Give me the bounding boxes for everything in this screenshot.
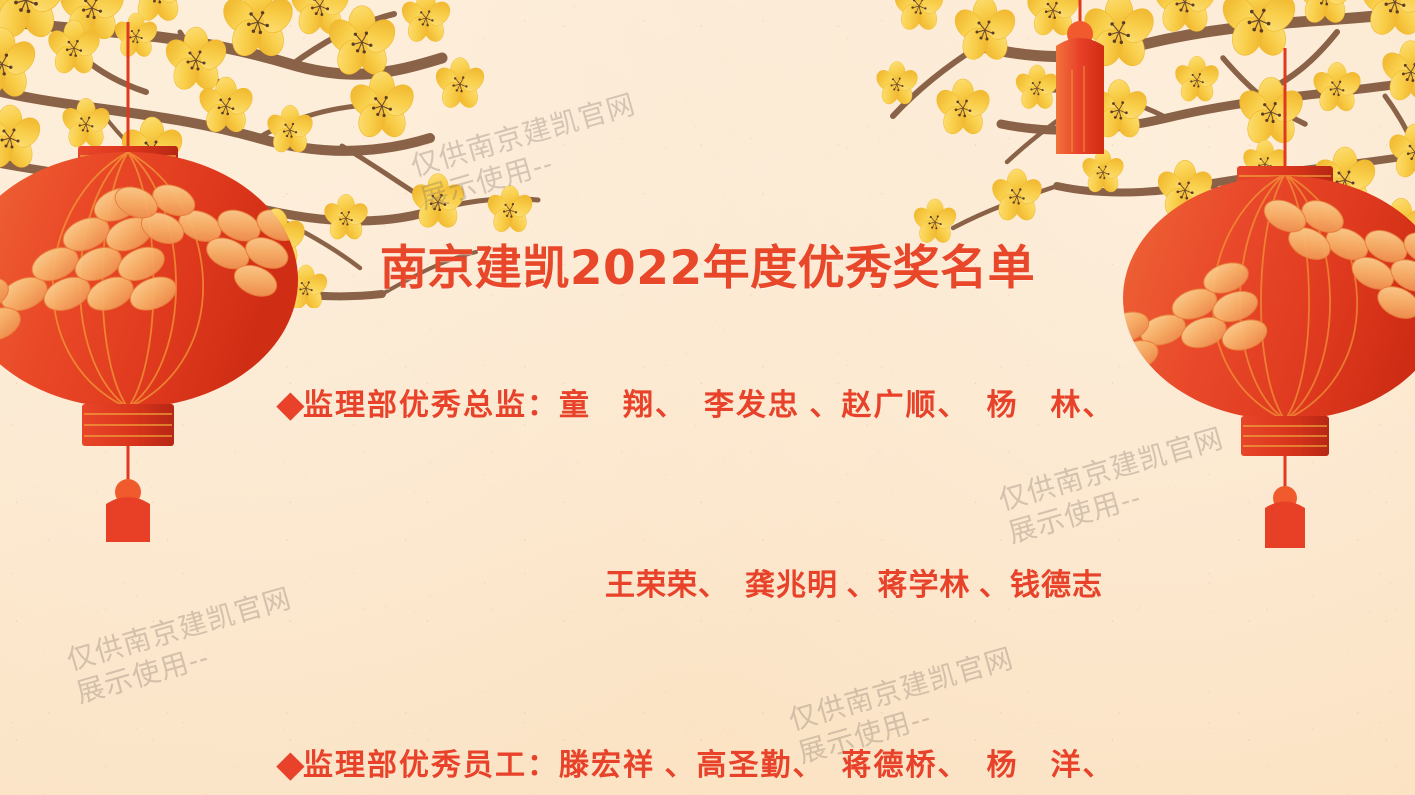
- list-item: 监理部优秀员工：滕宏祥 、高圣勤、 蒋德桥、 杨 洋、: [228, 676, 1188, 795]
- list-item: 王荣荣、 龚兆明 、蒋学林 、钱德志: [228, 496, 1188, 676]
- list-item: 监理部优秀总监：童 翔、 李发忠 、赵广顺、 杨 林、: [228, 316, 1188, 496]
- lantern-middle-tassel: [980, 0, 1180, 232]
- award-name-list: 监理部优秀总监：童 翔、 李发忠 、赵广顺、 杨 林、 王荣荣、 龚兆明 、蒋学…: [228, 316, 1188, 795]
- diamond-bullet-icon: [276, 393, 304, 421]
- page-title: 南京建凯2022年度优秀奖名单: [0, 229, 1415, 298]
- slide-canvas: 南京建凯2022年度优秀奖名单 监理部优秀总监：童 翔、 李发忠 、赵广顺、 杨…: [0, 0, 1415, 795]
- line-text-1: 监理部优秀总监：童 翔、 李发忠 、赵广顺、 杨 林、: [303, 389, 1115, 422]
- diamond-bullet-icon: [276, 753, 304, 781]
- line-text-2: 王荣荣、 龚兆明 、蒋学林 、钱德志: [605, 569, 1103, 602]
- watermark: 仅供南京建凯官网 展示使用--: [407, 87, 649, 216]
- line-text-3: 监理部优秀员工：滕宏祥 、高圣勤、 蒋德桥、 杨 洋、: [303, 749, 1115, 782]
